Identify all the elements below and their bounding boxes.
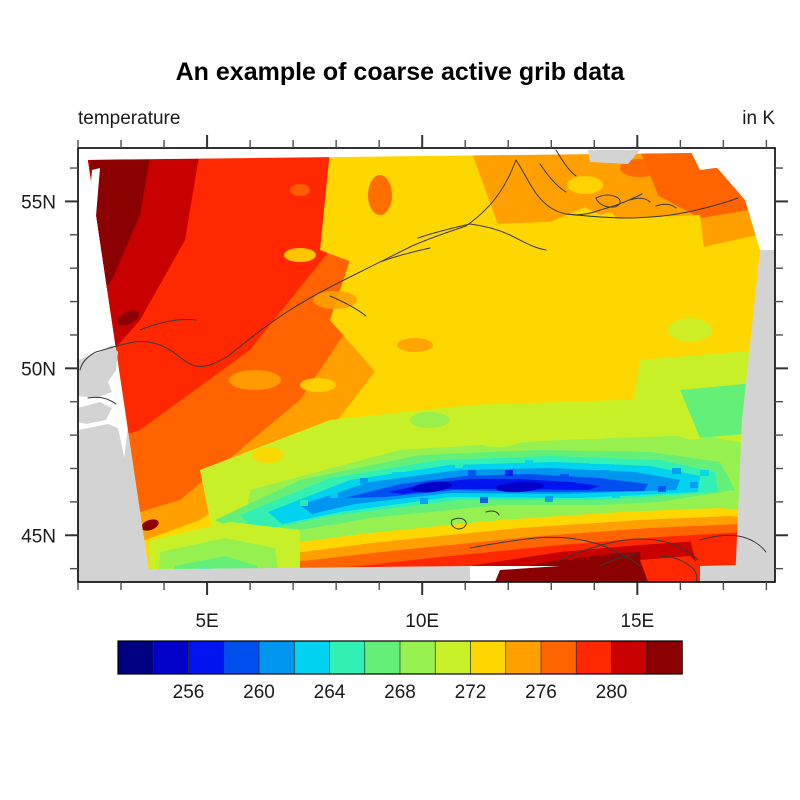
x-axis-label: 5E bbox=[195, 611, 218, 632]
colorbar-cell-280-282[interactable] bbox=[612, 641, 648, 674]
map-plot-area bbox=[70, 140, 790, 590]
colorbar-cell-252-254[interactable] bbox=[118, 641, 154, 674]
x-axis-label: 15E bbox=[620, 611, 654, 632]
colorbar-tick-label: 256 bbox=[173, 682, 205, 703]
temperature-field bbox=[70, 140, 790, 590]
colorbar-cell-282-284[interactable] bbox=[647, 641, 683, 674]
colorbar-cell-270-272[interactable] bbox=[435, 641, 471, 674]
chart-title: An example of coarse active grib data bbox=[176, 58, 626, 86]
unit-label: in K bbox=[742, 108, 775, 129]
colorbar-tick-label: 264 bbox=[314, 682, 346, 703]
colorbar-tick-label: 280 bbox=[596, 682, 628, 703]
colorbar-cell-262-264[interactable] bbox=[294, 641, 330, 674]
colorbar-cell-272-274[interactable] bbox=[471, 641, 507, 674]
colorbar-cell-266-268[interactable] bbox=[365, 641, 401, 674]
temperature-map-figure: An example of coarse active grib data te… bbox=[0, 0, 800, 800]
colorbar-tick-label: 276 bbox=[525, 682, 557, 703]
colorbar-cell-278-280[interactable] bbox=[576, 641, 612, 674]
variable-label: temperature bbox=[78, 108, 180, 129]
colorbar-cell-260-262[interactable] bbox=[259, 641, 295, 674]
colorbar-tick-label: 260 bbox=[243, 682, 275, 703]
x-axis-label: 10E bbox=[405, 611, 439, 632]
colorbar-cell-274-276[interactable] bbox=[506, 641, 542, 674]
field-istria-red bbox=[640, 556, 700, 582]
colorbar-cell-258-260[interactable] bbox=[224, 641, 260, 674]
sea-adriatic-south bbox=[700, 564, 775, 582]
colorbar-tick-label: 272 bbox=[455, 682, 487, 703]
colorbar-cell-276-278[interactable] bbox=[541, 641, 577, 674]
colorbar-cell-254-256[interactable] bbox=[153, 641, 189, 674]
y-axis-label: 45N bbox=[21, 526, 56, 547]
colorbar-cell-268-270[interactable] bbox=[400, 641, 436, 674]
colorbar-tick-label: 268 bbox=[384, 682, 416, 703]
y-axis-label: 50N bbox=[21, 359, 56, 380]
colorbar-cell-264-266[interactable] bbox=[330, 641, 366, 674]
colorbar-cell-256-258[interactable] bbox=[189, 641, 225, 674]
colorbar-cells bbox=[118, 641, 682, 674]
y-axis-label: 55N bbox=[21, 192, 56, 213]
colorbar[interactable]: 256260264268272276280 bbox=[118, 641, 682, 703]
